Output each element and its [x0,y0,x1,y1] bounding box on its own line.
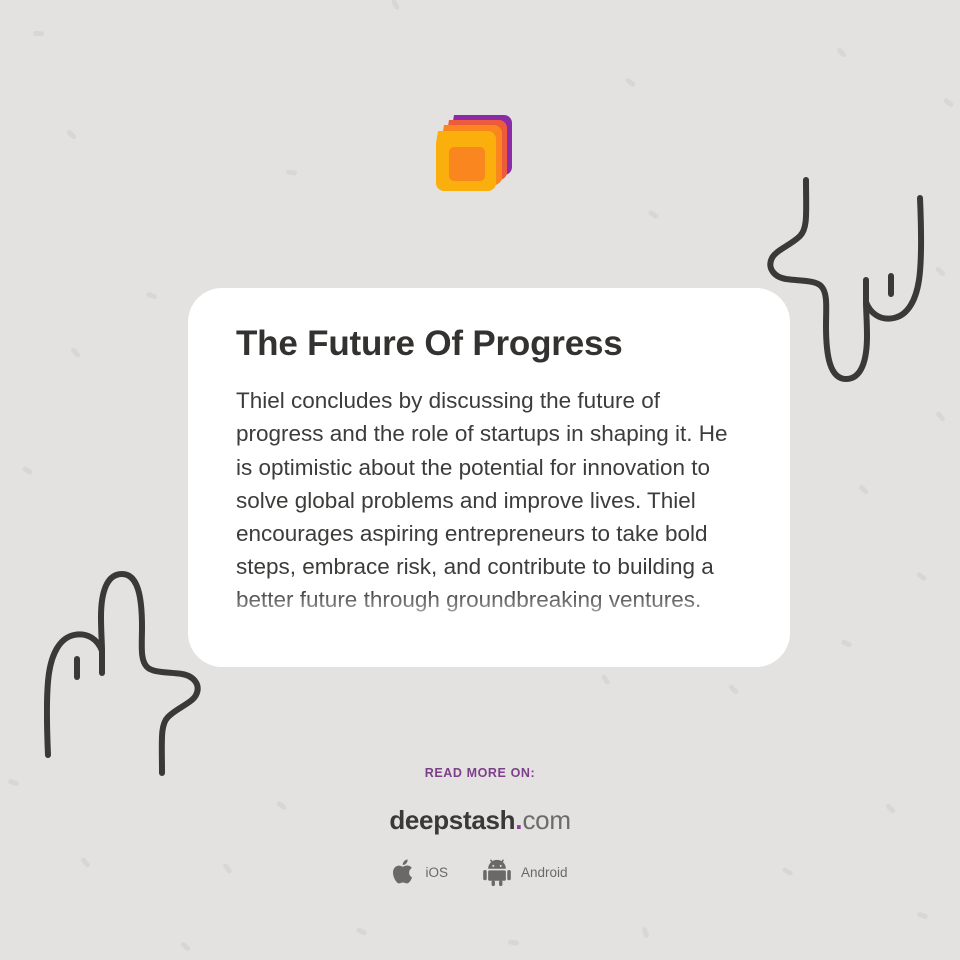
android-label: Android [521,865,568,880]
wordmark-tld: com [522,805,570,835]
confetti-dash [840,639,852,648]
footer: READ MORE ON: deepstash.com iOS [0,766,960,886]
brand-wordmark[interactable]: deepstash.com [0,807,960,833]
pointing-hand-icon-bottom-left [28,562,208,777]
confetti-dash [728,684,739,695]
android-store-badge[interactable]: Android [482,858,568,886]
ios-store-badge[interactable]: iOS [392,858,448,886]
confetti-dash [355,927,367,936]
read-more-label: READ MORE ON: [0,766,960,780]
wordmark-main: deepstash [389,805,515,835]
confetti-dash [33,31,44,36]
confetti-dash [943,97,955,108]
confetti-dash [836,47,847,59]
confetti-dash [648,209,660,219]
page-title: The Future Of Progress [236,324,742,364]
confetti-dash [508,939,520,946]
confetti-dash [858,484,870,495]
android-icon [482,858,512,886]
confetti-dash [391,0,401,11]
card-body-text: Thiel concludes by discussing the future… [236,384,742,616]
confetti-dash [935,266,946,277]
ios-label: iOS [425,865,448,880]
confetti-dash [916,911,928,919]
confetti-dash [286,169,298,175]
confetti-dash [641,926,649,938]
apple-icon [392,858,416,886]
idea-card: The Future Of Progress Thiel concludes b… [188,288,790,667]
confetti-dash [22,465,34,475]
deepstash-logo-icon [430,105,520,197]
app-store-badges: iOS [0,858,960,886]
confetti-dash [625,77,637,88]
confetti-dash [70,347,81,359]
confetti-dash [916,571,928,582]
confetti-dash [66,129,77,140]
confetti-dash [145,291,157,299]
confetti-dash [600,674,610,686]
confetti-dash [180,941,191,952]
poster-canvas: The Future Of Progress Thiel concludes b… [0,0,960,960]
confetti-dash [935,411,946,423]
